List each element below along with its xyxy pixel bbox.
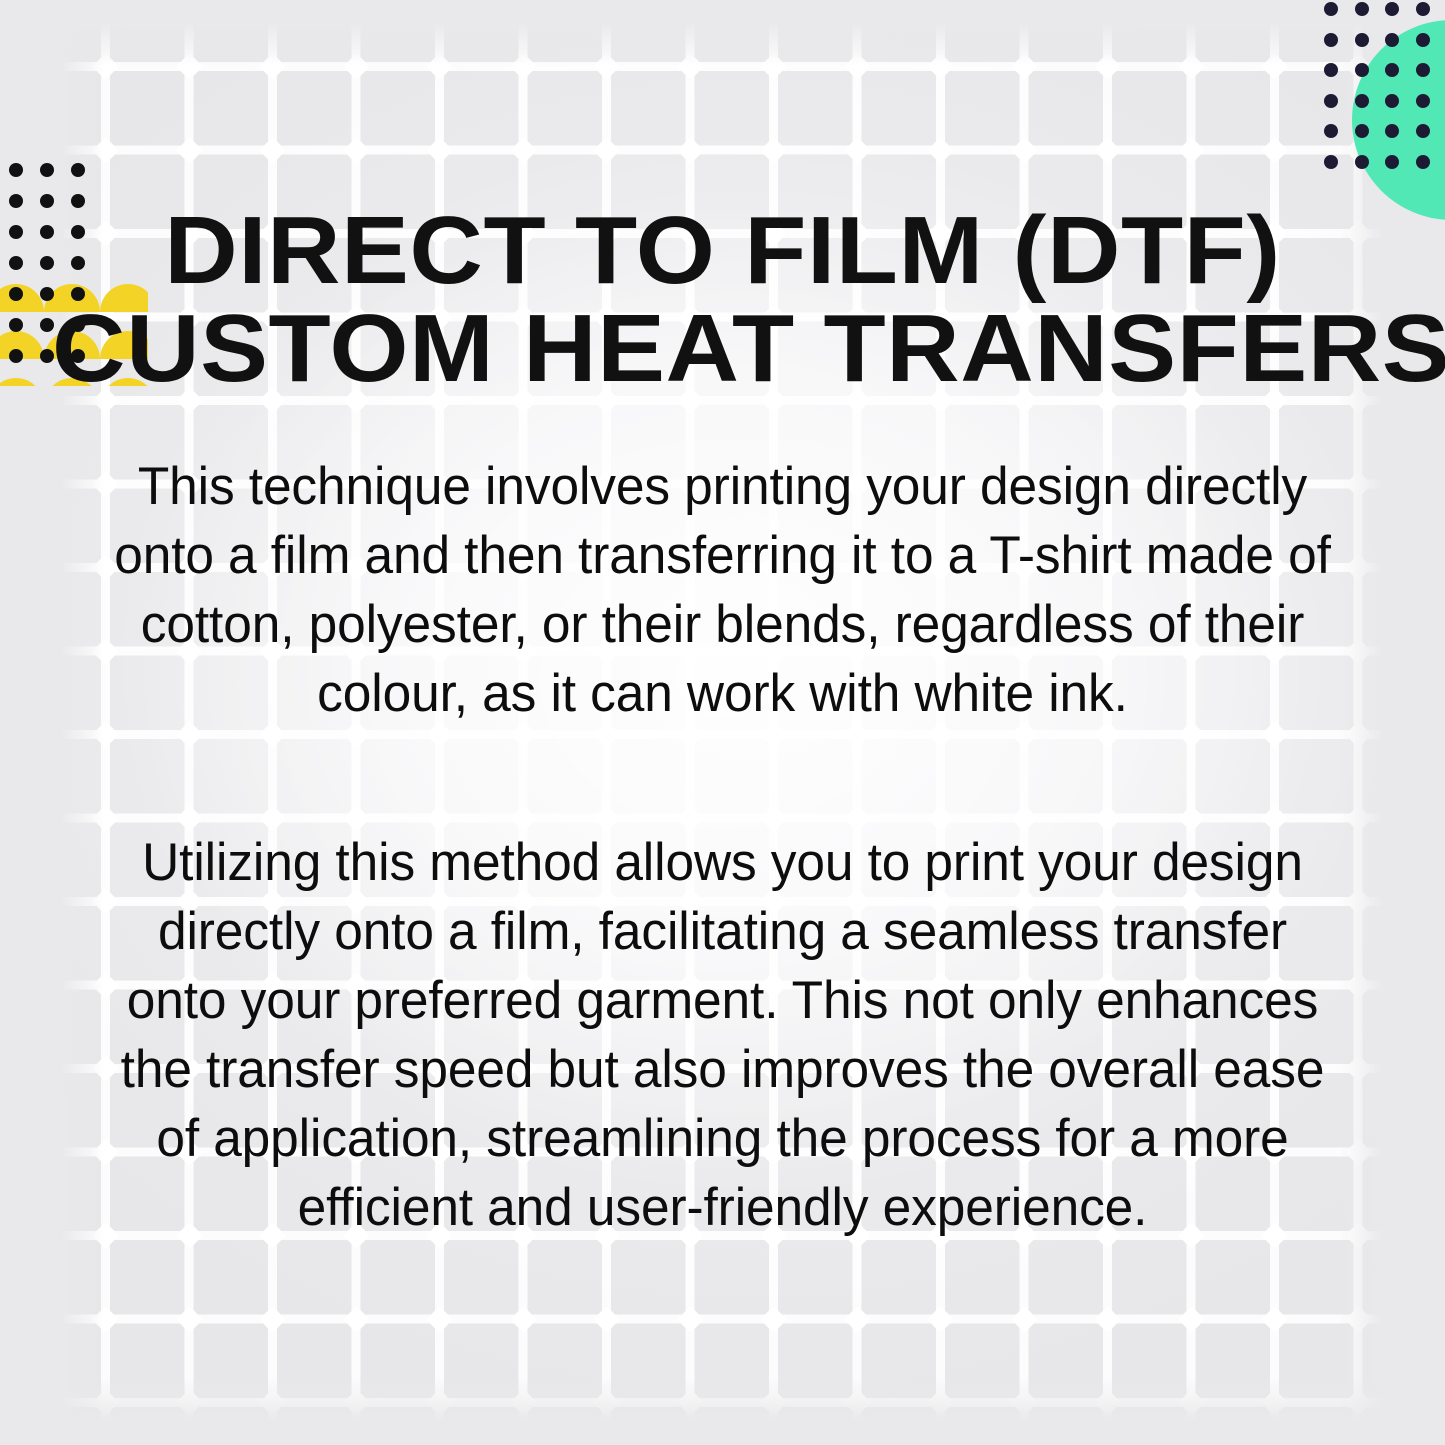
title-line-1: DIRECT TO FILM (DTF) xyxy=(52,202,1393,300)
body-copy: This technique involves printing your de… xyxy=(95,452,1350,1242)
poster-content: DIRECT TO FILM (DTF) CUSTOM HEAT TRANSFE… xyxy=(0,0,1445,1445)
poster-canvas: DIRECT TO FILM (DTF) CUSTOM HEAT TRANSFE… xyxy=(0,0,1445,1445)
paragraph-1: This technique involves printing your de… xyxy=(114,452,1331,728)
page-title: DIRECT TO FILM (DTF) CUSTOM HEAT TRANSFE… xyxy=(0,202,1445,398)
title-line-2: CUSTOM HEAT TRANSFERS xyxy=(52,300,1393,398)
paragraph-2: Utilizing this method allows you to prin… xyxy=(114,828,1331,1242)
